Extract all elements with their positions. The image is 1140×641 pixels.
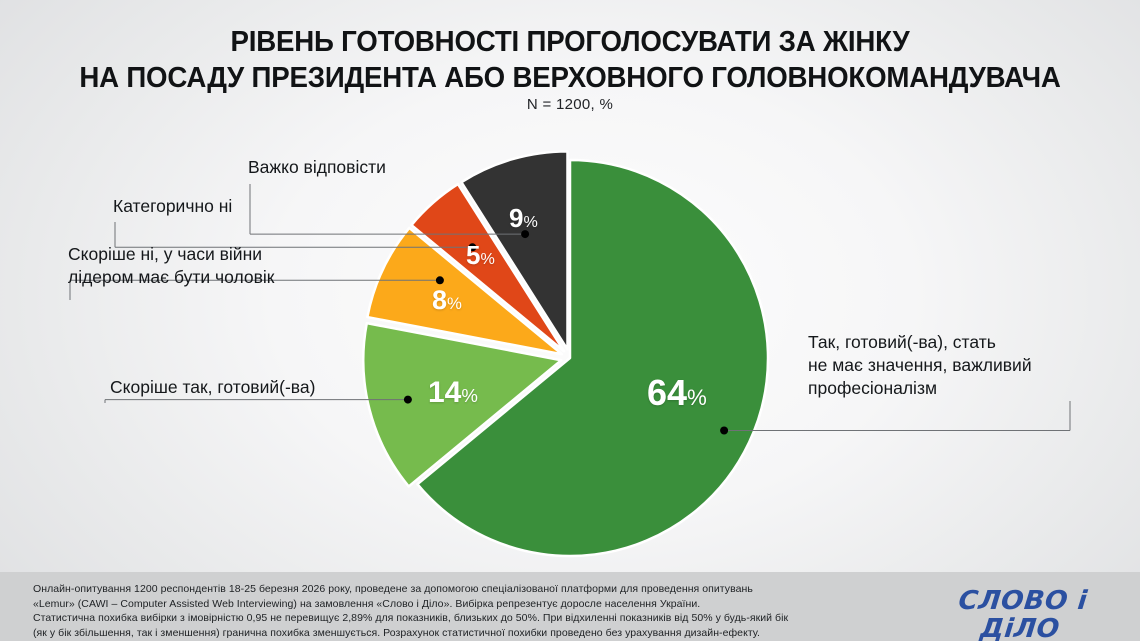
callout-line: Важко відповісти: [248, 156, 386, 179]
slice-value-number-rather-yes: 14: [428, 376, 461, 409]
callout-label-rather-no: Скоріше ні, у часи війни лідером має бут…: [68, 243, 274, 289]
leader-dot-rather-yes: [404, 396, 412, 404]
callout-label-definitely-no: Категорично ні: [113, 195, 232, 218]
methodology-note-line: (як у бік збільшення, так і зменшення) г…: [33, 626, 788, 641]
footer-bar: Онлайн-опитування 1200 респондентів 18-2…: [0, 572, 1140, 641]
percent-sign-rather-no: %: [447, 294, 462, 313]
callout-label-yes-ready: Так, готовий(-ва), стать не має значення…: [808, 331, 1032, 400]
methodology-note-line: Онлайн-опитування 1200 респондентів 18-2…: [33, 582, 788, 597]
methodology-note-line: Статистична похибка вибірки з імовірніст…: [33, 611, 788, 626]
pie-svg: [0, 0, 1140, 641]
slice-value-number-definitely-no: 5: [466, 240, 480, 270]
percent-sign-definitely-no: %: [480, 250, 494, 268]
infographic-root: РІВЕНЬ ГОТОВНОСТІ ПРОГОЛОСУВАТИ ЗА ЖІНКУ…: [0, 0, 1140, 641]
callout-line: Скоріше так, готовий(-ва): [110, 376, 315, 399]
callout-line: професіоналізм: [808, 377, 1032, 400]
percent-sign-rather-yes: %: [461, 385, 478, 406]
slice-value-hard-to-answer: 9%: [509, 205, 538, 231]
pie-slices: [363, 151, 768, 556]
callout-label-hard-to-answer: Важко відповісти: [248, 156, 386, 179]
methodology-note-line: «Lemur» (CAWI – Computer Assisted Web In…: [33, 597, 788, 612]
brand-logo-text: СЛОВО і ДіЛО: [925, 587, 1118, 641]
slice-value-rather-yes: 14%: [428, 378, 478, 408]
leader-line-rather-yes: [105, 400, 408, 403]
callout-line: лідером має бути чоловік: [68, 266, 274, 289]
callout-line: Так, готовий(-ва), стать: [808, 331, 1032, 354]
brand-logo[interactable]: СЛОВО і ДіЛО: [930, 587, 1113, 641]
slice-value-yes-ready: 64%: [647, 375, 707, 411]
slice-value-number-rather-no: 8: [432, 285, 447, 315]
callout-line: не має значення, важливий: [808, 354, 1032, 377]
pie-chart: 64% 14% 8% 5% 9% Так, готовий(-ва), стат…: [0, 0, 1140, 641]
leader-dot-rather-no: [436, 276, 444, 284]
leader-dot-yes-ready: [720, 427, 728, 435]
callout-line: Категорично ні: [113, 195, 232, 218]
callout-label-rather-yes: Скоріше так, готовий(-ва): [110, 376, 315, 399]
slice-value-number-hard-to-answer: 9: [509, 203, 523, 233]
percent-sign-hard-to-answer: %: [523, 213, 537, 231]
percent-sign-yes-ready: %: [687, 385, 707, 410]
slice-value-definitely-no: 5%: [466, 242, 495, 268]
callout-line: Скоріше ні, у часи війни: [68, 243, 274, 266]
methodology-note: Онлайн-опитування 1200 респондентів 18-2…: [33, 582, 788, 640]
slice-value-number-yes-ready: 64: [647, 372, 687, 413]
leader-line-yes-ready: [724, 401, 1070, 431]
slice-value-rather-no: 8%: [432, 287, 462, 314]
